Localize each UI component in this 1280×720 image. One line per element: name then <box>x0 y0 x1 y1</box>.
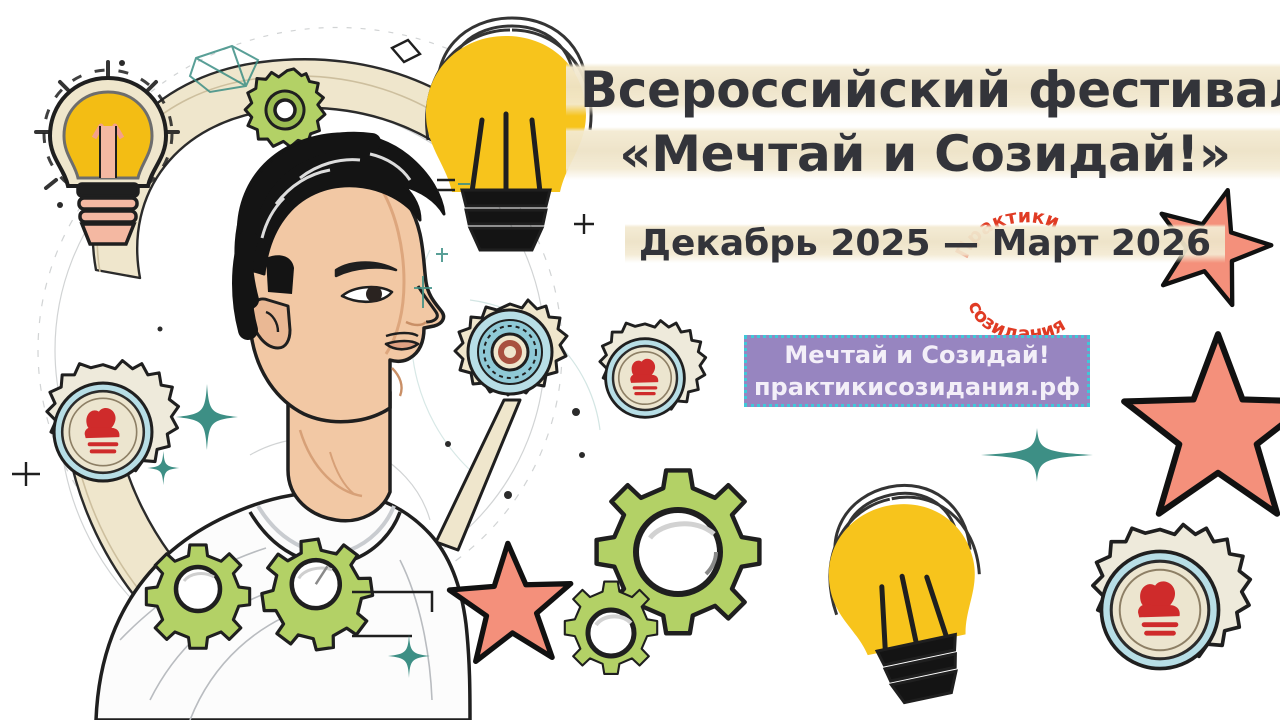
gear-logo-mid <box>600 321 706 418</box>
lightbulb-small-arc <box>36 62 178 244</box>
title-line-1: Всероссийский фестиваль <box>580 58 1270 122</box>
gear-mechanism-center <box>436 300 567 550</box>
hand-heart-emblem <box>85 408 120 453</box>
hand-heart-emblem <box>630 359 658 395</box>
gear-shirt-left <box>146 545 249 648</box>
star-right-large <box>1124 334 1280 514</box>
sparkle-lower-left <box>147 451 179 485</box>
page-title: Всероссийский фестиваль «Мечтай и Созида… <box>580 58 1270 186</box>
sparkle-left <box>176 384 238 450</box>
hand-heart-emblem <box>1138 581 1180 635</box>
sparkle-center <box>388 634 430 678</box>
shirt-connector-line <box>352 592 432 636</box>
sketch-dots <box>57 60 585 499</box>
sketch-plus-marks <box>12 40 594 486</box>
sparkle-right <box>981 428 1093 482</box>
headline-block: Всероссийский фестиваль «Мечтай и Созида… <box>580 58 1270 268</box>
gear-logo-bottom-right <box>1093 525 1250 669</box>
gear-green-large <box>597 470 760 633</box>
event-dates: Декабрь 2025 — Март 2026 <box>580 220 1270 268</box>
gear-arc-green-top <box>238 61 333 156</box>
callout-slogan: Мечтай и Созидай! <box>784 340 1049 371</box>
sparkle-group <box>147 384 1093 678</box>
sketch-guidelines <box>38 27 600 690</box>
gear-green-small <box>565 582 657 674</box>
star-center <box>447 540 574 662</box>
young-man-profile <box>96 134 470 720</box>
title-line-2: «Мечтай и Созидай!» <box>580 122 1270 186</box>
gear-logo-left <box>47 361 179 481</box>
callout-url[interactable]: практикисозидания.рф <box>754 372 1080 403</box>
sketch-doodles <box>190 46 470 308</box>
decorative-arc-band <box>64 59 512 625</box>
gear-shirt-right <box>255 533 379 657</box>
website-callout[interactable]: Мечтай и Созидай! практикисозидания.рф <box>744 335 1090 407</box>
festival-poster: Практики созидания <box>0 0 1280 720</box>
